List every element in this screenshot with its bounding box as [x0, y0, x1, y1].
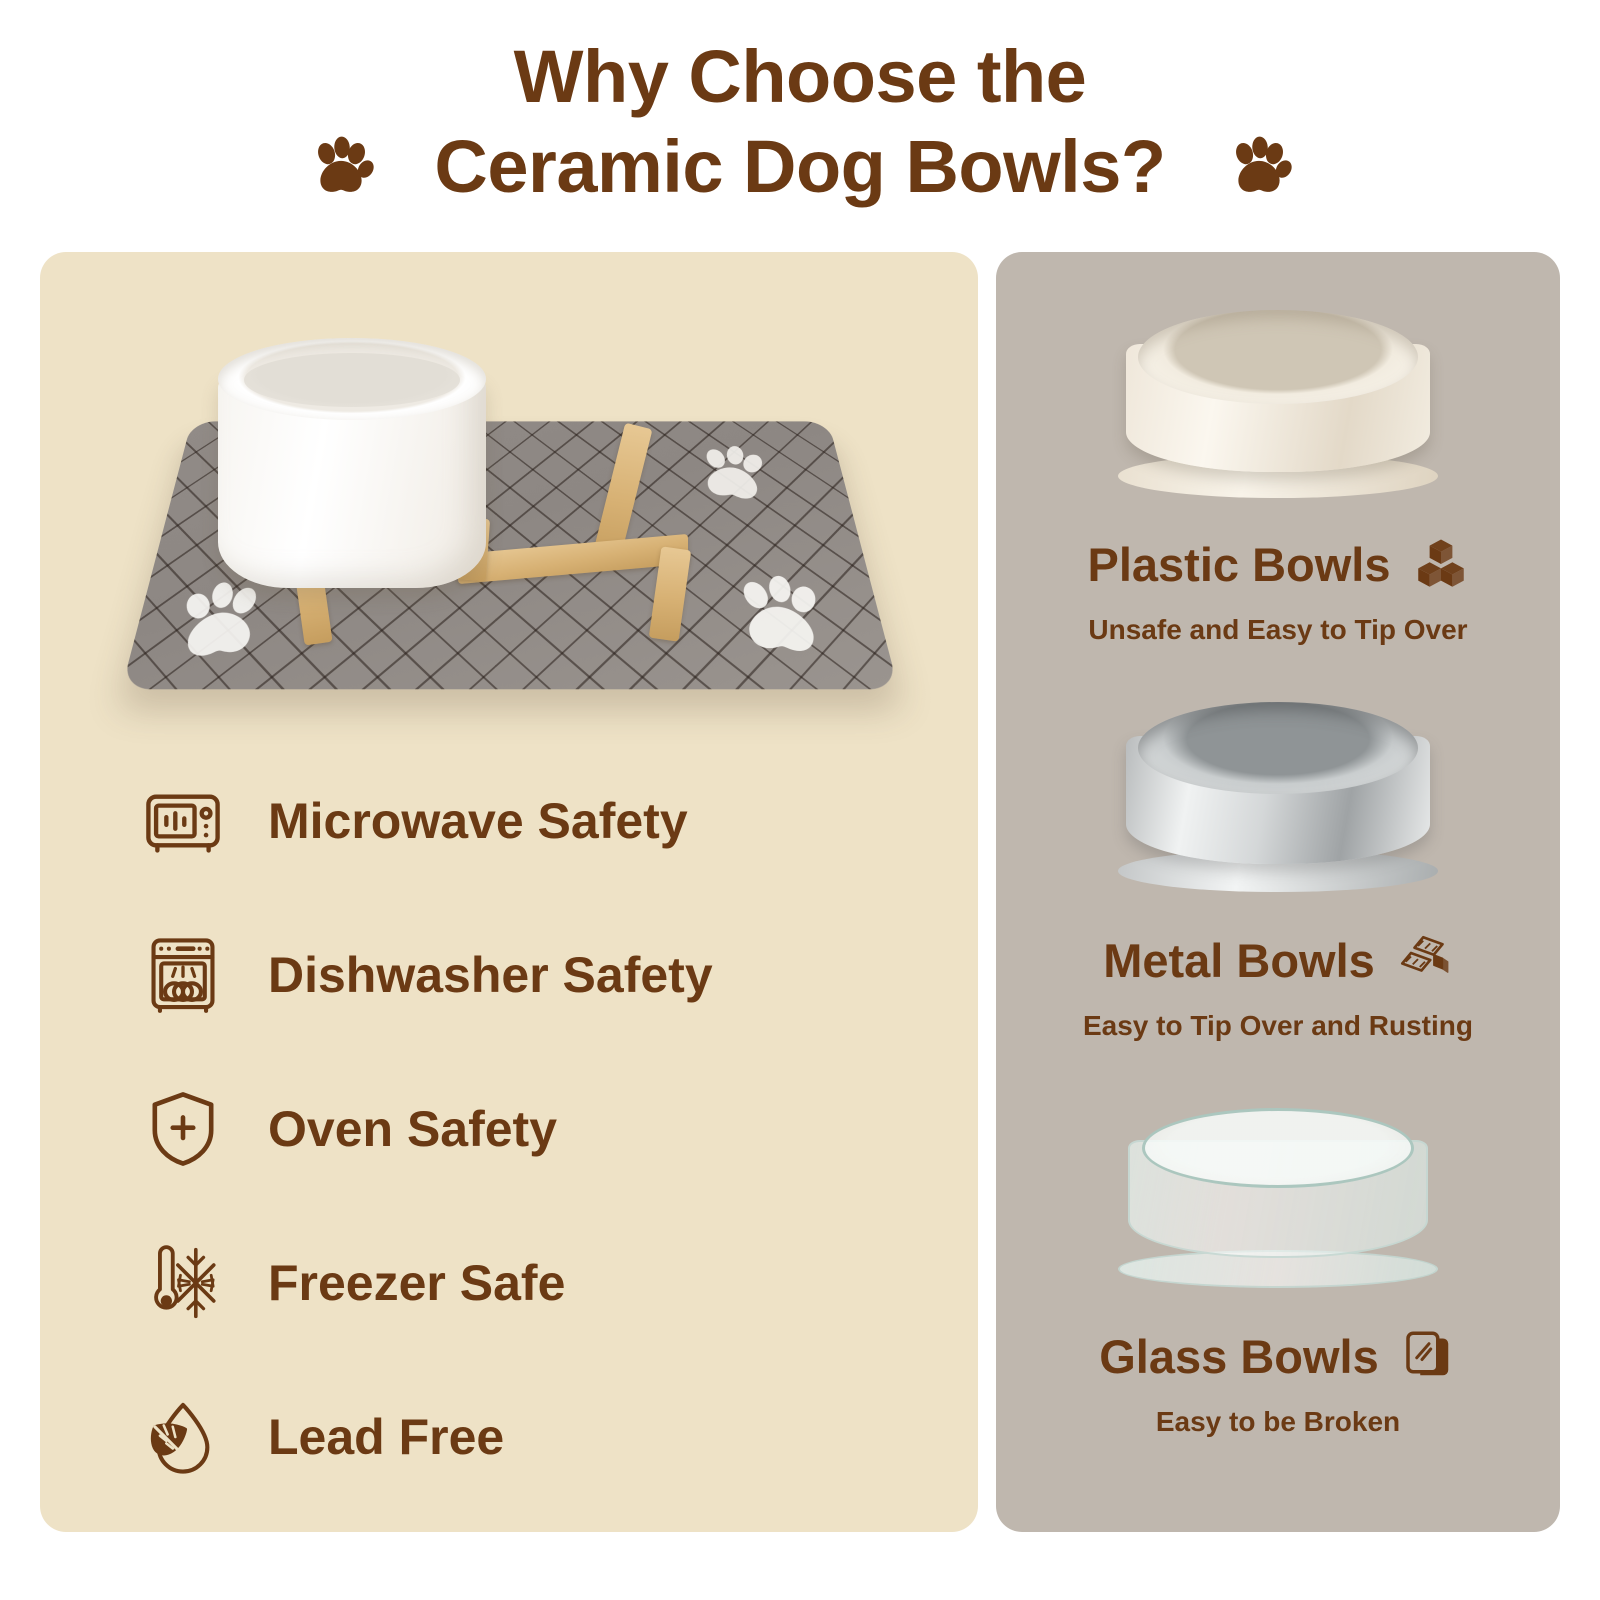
alternative-subtitle: Easy to Tip Over and Rusting [996, 1010, 1560, 1042]
alternative-subtitle: Easy to be Broken [996, 1406, 1560, 1438]
ceramic-bowl [218, 338, 486, 588]
stacked-cubes-icon [1413, 536, 1469, 592]
feature-label: Oven Safety [268, 1100, 557, 1158]
page-title: Why Choose the Ceramic Dog Bowls? [0, 32, 1600, 213]
feature-label: Lead Free [268, 1408, 504, 1466]
alternative-bowls-panel: Plastic Bowls Unsafe and Easy [996, 252, 1560, 1532]
alternative-glass: Glass Bowls Easy to be Broken [996, 1074, 1560, 1438]
feature-item-freezer: Freezer Safe [142, 1206, 902, 1360]
alternative-title: Plastic Bowls [1088, 537, 1391, 592]
alternative-metal: Metal Bowls Easy to Tip Over and Rusting [996, 678, 1560, 1042]
alternative-subtitle: Unsafe and Easy to Tip Over [996, 614, 1560, 646]
feature-item-lead-free: Lead Free [142, 1360, 902, 1514]
shield-plus-icon [142, 1088, 224, 1170]
product-photo [110, 312, 910, 712]
plastic-bowl-photo [996, 282, 1560, 532]
metal-title-row: Metal Bowls [996, 932, 1560, 988]
mat-paw-icon [689, 437, 774, 511]
feature-item-dishwasher: Dishwasher Safety [142, 898, 902, 1052]
infographic-page: Why Choose the Ceramic Dog Bowls? [0, 0, 1600, 1600]
alternative-title: Glass Bowls [1099, 1329, 1379, 1384]
feature-label: Dishwasher Safety [268, 946, 713, 1004]
metal-bowl-photo [996, 678, 1560, 928]
title-line-1: Why Choose the [0, 32, 1600, 122]
feature-label: Freezer Safe [268, 1254, 565, 1312]
alternative-plastic: Plastic Bowls Unsafe and Easy [996, 282, 1560, 646]
microwave-icon [142, 780, 224, 862]
thermometer-snowflake-icon [142, 1242, 224, 1324]
dishwasher-icon [142, 934, 224, 1016]
alternative-title: Metal Bowls [1103, 933, 1375, 988]
mat-paw-icon [725, 567, 839, 669]
title-line-2-text: Ceramic Dog Bowls? [434, 122, 1165, 212]
feature-label: Microwave Safety [268, 792, 688, 850]
metal-ingots-icon [1397, 932, 1453, 988]
water-drop-leaf-icon [142, 1396, 224, 1478]
glass-title-row: Glass Bowls [996, 1328, 1560, 1384]
plastic-title-row: Plastic Bowls [996, 536, 1560, 592]
feature-item-microwave: Microwave Safety [142, 744, 902, 898]
title-line-2-row: Ceramic Dog Bowls? [0, 122, 1600, 212]
paw-print-icon-left [308, 134, 374, 200]
feature-item-oven: Oven Safety [142, 1052, 902, 1206]
paw-print-icon-right [1226, 134, 1292, 200]
glass-bowl-photo [996, 1074, 1560, 1324]
glass-panes-icon [1401, 1328, 1457, 1384]
feature-list: Microwave Safety [142, 744, 902, 1514]
ceramic-bowl-panel: Microwave Safety [40, 252, 978, 1532]
